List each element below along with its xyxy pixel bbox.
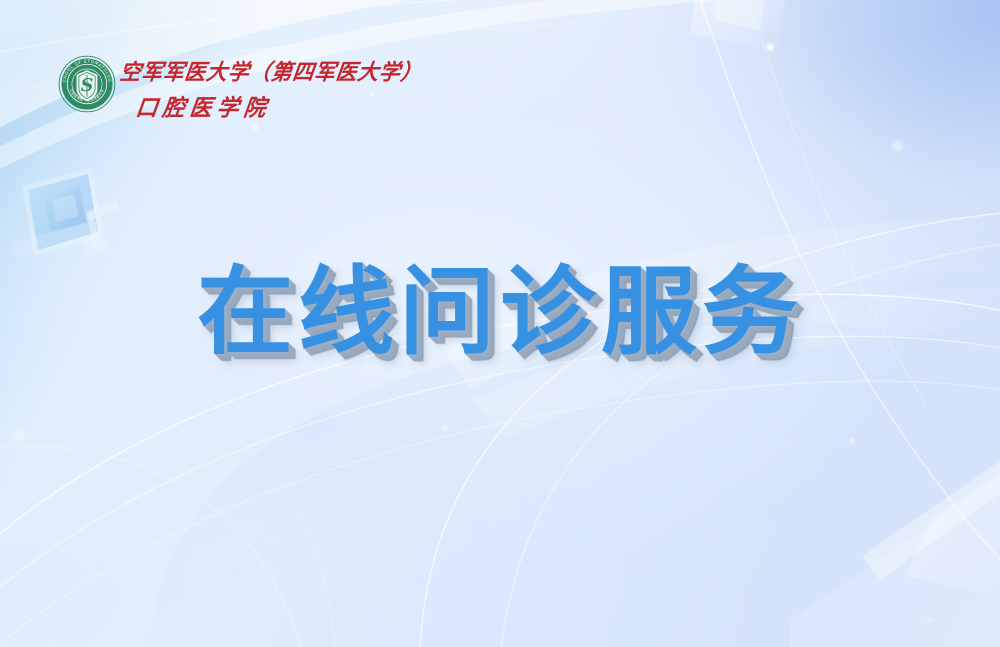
- institution-name: 空军军医大学（第四军医大学） 口腔医学院: [120, 52, 336, 132]
- institution-name-line2: 口腔医学院: [134, 89, 273, 122]
- main-title: 在线问诊服务: [197, 262, 803, 364]
- institution-logo: SCHOOL OF STOMATOLOGY 口腔医学院 · 空军军医大学 S 空…: [58, 52, 338, 134]
- institution-name-line1: 空军军医大学（第四军医大学）: [118, 55, 424, 86]
- online-consultation-banner: SCHOOL OF STOMATOLOGY 口腔医学院 · 空军军医大学 S 空…: [0, 0, 1000, 647]
- school-of-stomatology-seal-icon: SCHOOL OF STOMATOLOGY 口腔医学院 · 空军军医大学 S: [58, 55, 116, 113]
- main-title-container: 在线问诊服务: [0, 262, 1000, 364]
- monitor-cube-decoration: [10, 168, 120, 258]
